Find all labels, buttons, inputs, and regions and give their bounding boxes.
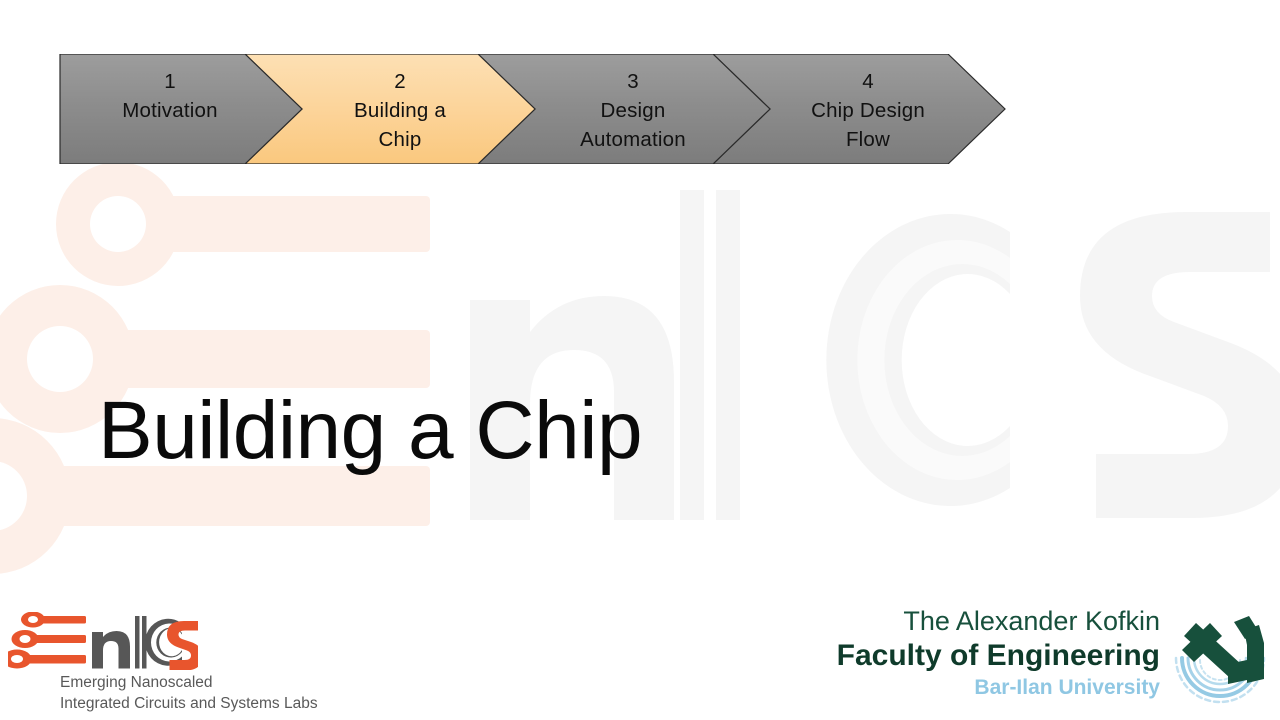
page-title: Building a Chip bbox=[98, 382, 642, 480]
bar-ilan-logo-text: The Alexander Kofkin Faculty of Engineer… bbox=[830, 604, 1160, 701]
chevron-step-3-text-line1: Design bbox=[513, 96, 753, 125]
chevron-step-4-text-line1: Chip Design bbox=[748, 96, 988, 125]
enics-tagline-line1: Emerging Nanoscaled bbox=[60, 672, 318, 693]
bar-ilan-line-university: Bar-Ilan University bbox=[830, 674, 1160, 701]
chevron-step-1-text: Motivation bbox=[60, 96, 280, 125]
chevron-step-4-text-line2: Flow bbox=[748, 125, 988, 154]
section-progress-chevrons: 1 Motivation 2 Building a Chip 3 Design … bbox=[58, 54, 1010, 164]
chevron-step-3-number: 3 bbox=[513, 67, 753, 96]
chevron-step-2-text-line1: Building a bbox=[280, 96, 520, 125]
enics-logo: Emerging Nanoscaled Integrated Circuits … bbox=[8, 612, 338, 714]
chevron-step-2-number: 2 bbox=[280, 67, 520, 96]
chevron-step-2-label[interactable]: 2 Building a Chip bbox=[280, 67, 520, 154]
chevron-step-3-label[interactable]: 3 Design Automation bbox=[513, 67, 753, 154]
chevron-step-3-text-line2: Automation bbox=[513, 125, 753, 154]
slide-canvas: 1 Motivation 2 Building a Chip 3 Design … bbox=[0, 0, 1280, 720]
chevron-step-4-number: 4 bbox=[748, 67, 988, 96]
bar-ilan-faculty-logo: The Alexander Kofkin Faculty of Engineer… bbox=[820, 604, 1272, 712]
bar-ilan-line-kofkin: The Alexander Kofkin bbox=[830, 604, 1160, 638]
bar-ilan-line-faculty: Faculty of Engineering bbox=[830, 638, 1160, 674]
chevron-step-1-number: 1 bbox=[60, 67, 280, 96]
bar-ilan-emblem-icon bbox=[1168, 606, 1272, 710]
chevron-step-4-label[interactable]: 4 Chip Design Flow bbox=[748, 67, 988, 154]
enics-tagline-line2: Integrated Circuits and Systems Labs bbox=[60, 693, 318, 714]
chevron-step-1-label[interactable]: 1 Motivation bbox=[60, 67, 280, 125]
enics-wordmark-icon bbox=[8, 612, 198, 670]
chevron-step-2-text-line2: Chip bbox=[280, 125, 520, 154]
enics-tagline: Emerging Nanoscaled Integrated Circuits … bbox=[60, 672, 318, 714]
